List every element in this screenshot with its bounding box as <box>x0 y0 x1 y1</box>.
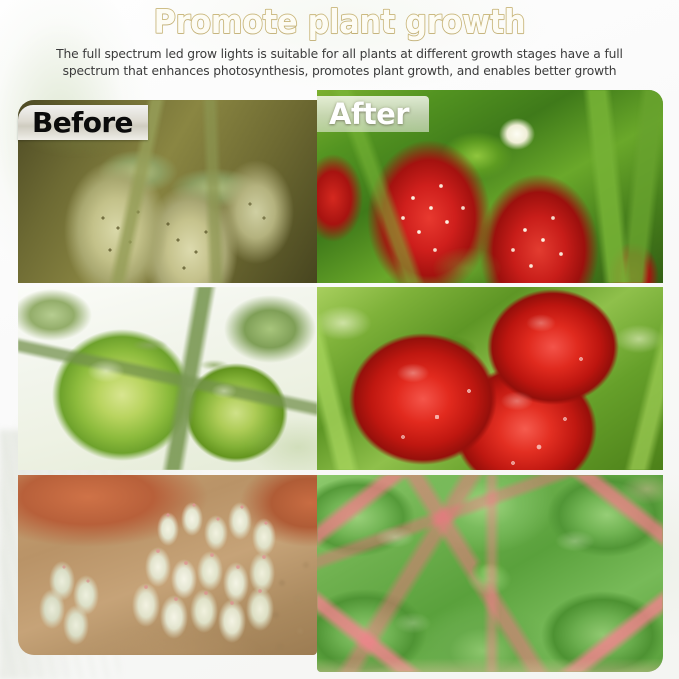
page-title: Promote plant growth <box>27 0 652 40</box>
header: Promote plant growth The full spectrum l… <box>0 0 679 79</box>
after-label-badge: After <box>317 96 429 132</box>
vivid-succulent-image <box>317 475 663 672</box>
after-photo-tomato <box>317 287 663 470</box>
before-label-badge: Before <box>18 105 148 140</box>
page-subtitle: The full spectrum led grow lights is sui… <box>34 46 646 79</box>
green-tomato-image <box>18 287 317 470</box>
before-photo-tomato <box>18 287 317 470</box>
red-tomato-image <box>317 287 663 470</box>
before-label-text: Before <box>32 106 133 139</box>
before-photo-succulent <box>18 475 317 655</box>
before-after-comparison-grid: Before After <box>0 0 679 679</box>
after-photo-succulent <box>317 475 663 672</box>
pale-succulent-image <box>18 475 317 655</box>
after-label-text: After <box>329 97 409 131</box>
